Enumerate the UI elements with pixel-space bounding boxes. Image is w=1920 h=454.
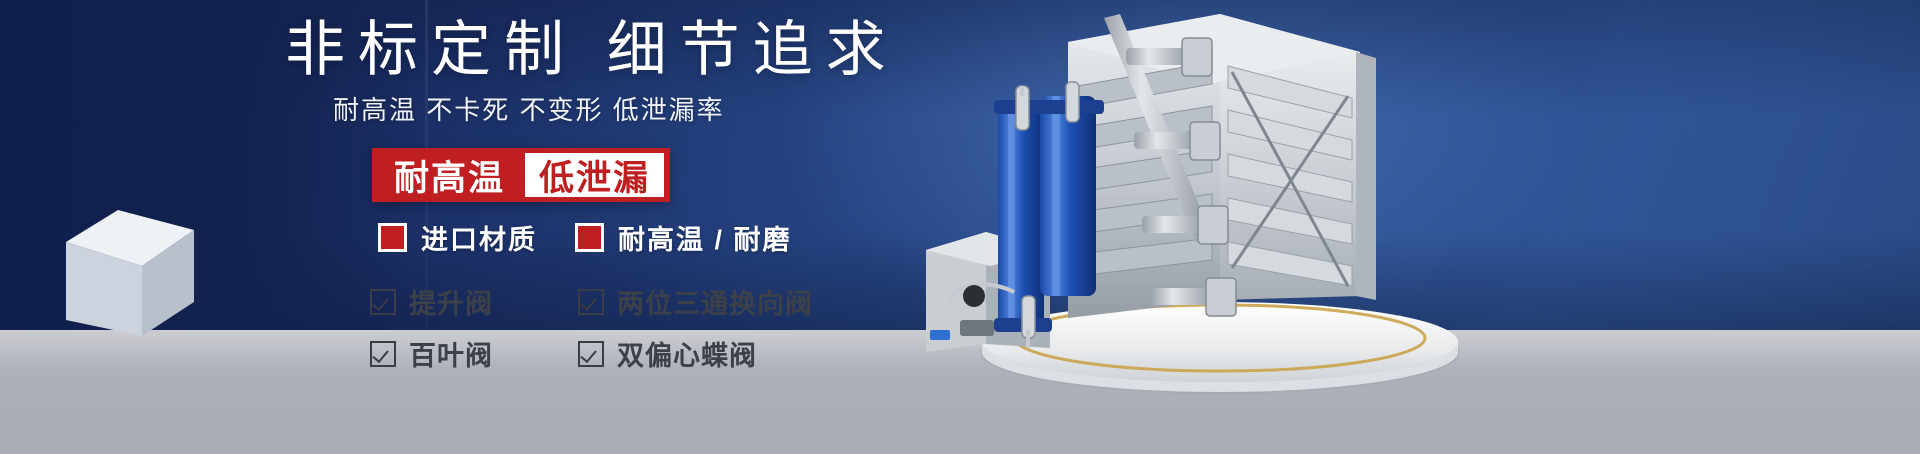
status-badge: 耐高温 低泄漏: [372, 148, 670, 202]
promo-banner: 非标定制 细节追求 耐高温 不卡死 不变形 低泄漏率 耐高温 低泄漏 进口材质 …: [0, 0, 1920, 454]
product-image: [890, 0, 1490, 400]
list-item-label: 百叶阀: [409, 334, 493, 373]
list-item: 提升阀: [370, 282, 540, 321]
page-title: 非标定制 细节追求: [285, 14, 885, 86]
feature-label: 耐高温 / 耐磨: [618, 218, 792, 257]
red-square-icon: [575, 223, 604, 252]
list-item-label: 提升阀: [409, 282, 493, 321]
list-item: 百叶阀: [370, 334, 540, 373]
checkbox-checked-icon: [370, 289, 396, 315]
badge-left-text: 耐高温: [372, 148, 525, 202]
feature-item: 耐高温 / 耐磨: [575, 218, 792, 257]
product-checklist: 提升阀 两位三通换向阀 百叶阀 双偏心蝶阀: [370, 282, 813, 373]
list-item-label: 双偏心蝶阀: [617, 334, 757, 373]
checkbox-checked-icon: [578, 341, 604, 367]
cube-decoration: [60, 196, 200, 336]
red-square-icon: [378, 223, 407, 252]
feature-label: 进口材质: [421, 218, 537, 257]
checkbox-checked-icon: [370, 341, 396, 367]
list-item: 双偏心蝶阀: [578, 334, 813, 373]
feature-list: 进口材质 耐高温 / 耐磨: [378, 218, 792, 257]
list-item-label: 两位三通换向阀: [617, 282, 813, 321]
checkbox-checked-icon: [578, 289, 604, 315]
subtitle: 耐高温 不卡死 不变形 低泄漏率: [333, 93, 953, 127]
list-item: 两位三通换向阀: [578, 282, 813, 321]
badge-right-text: 低泄漏: [525, 153, 664, 197]
feature-item: 进口材质: [378, 218, 537, 257]
